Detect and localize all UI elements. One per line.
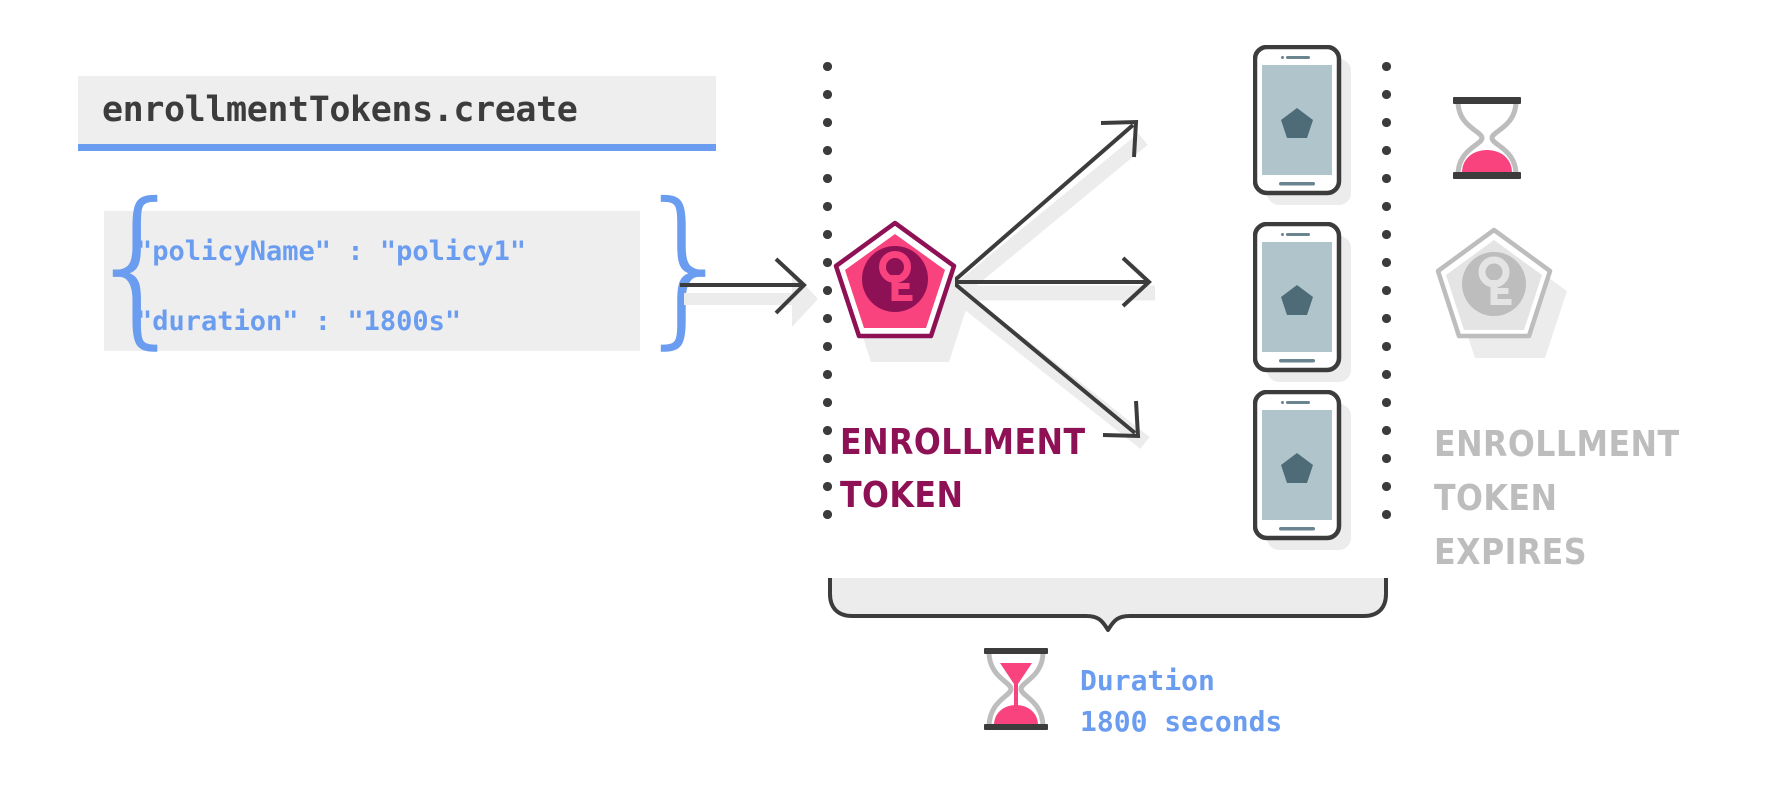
timeline-boundary-start [823,62,832,528]
api-method-title: enrollmentTokens.create [102,90,577,130]
hourglass-icon [1448,93,1526,188]
api-method-title-box: enrollmentTokens.create [78,76,716,144]
pentagon-key-icon-disabled [1432,222,1572,367]
token-distribution-arrows [955,85,1275,490]
duration-span-brace [828,578,1388,643]
device-3 [1253,390,1353,555]
timeline-boundary-end [1382,62,1391,528]
payload-fields: "policyName" : "policy1" "duration" : "1… [136,217,526,357]
hourglass-icon [980,645,1052,740]
request-payload-panel: { } "policyName" : "policy1" "duration" … [90,205,650,355]
request-flow-arrow [680,255,820,350]
api-title-underline [78,144,716,151]
duration-caption: Duration 1800 seconds [1080,660,1282,742]
device-1 [1253,45,1353,210]
device-2 [1253,222,1353,387]
enrollment-token-expires-label: ENROLLMENT TOKEN EXPIRES [1434,418,1680,580]
